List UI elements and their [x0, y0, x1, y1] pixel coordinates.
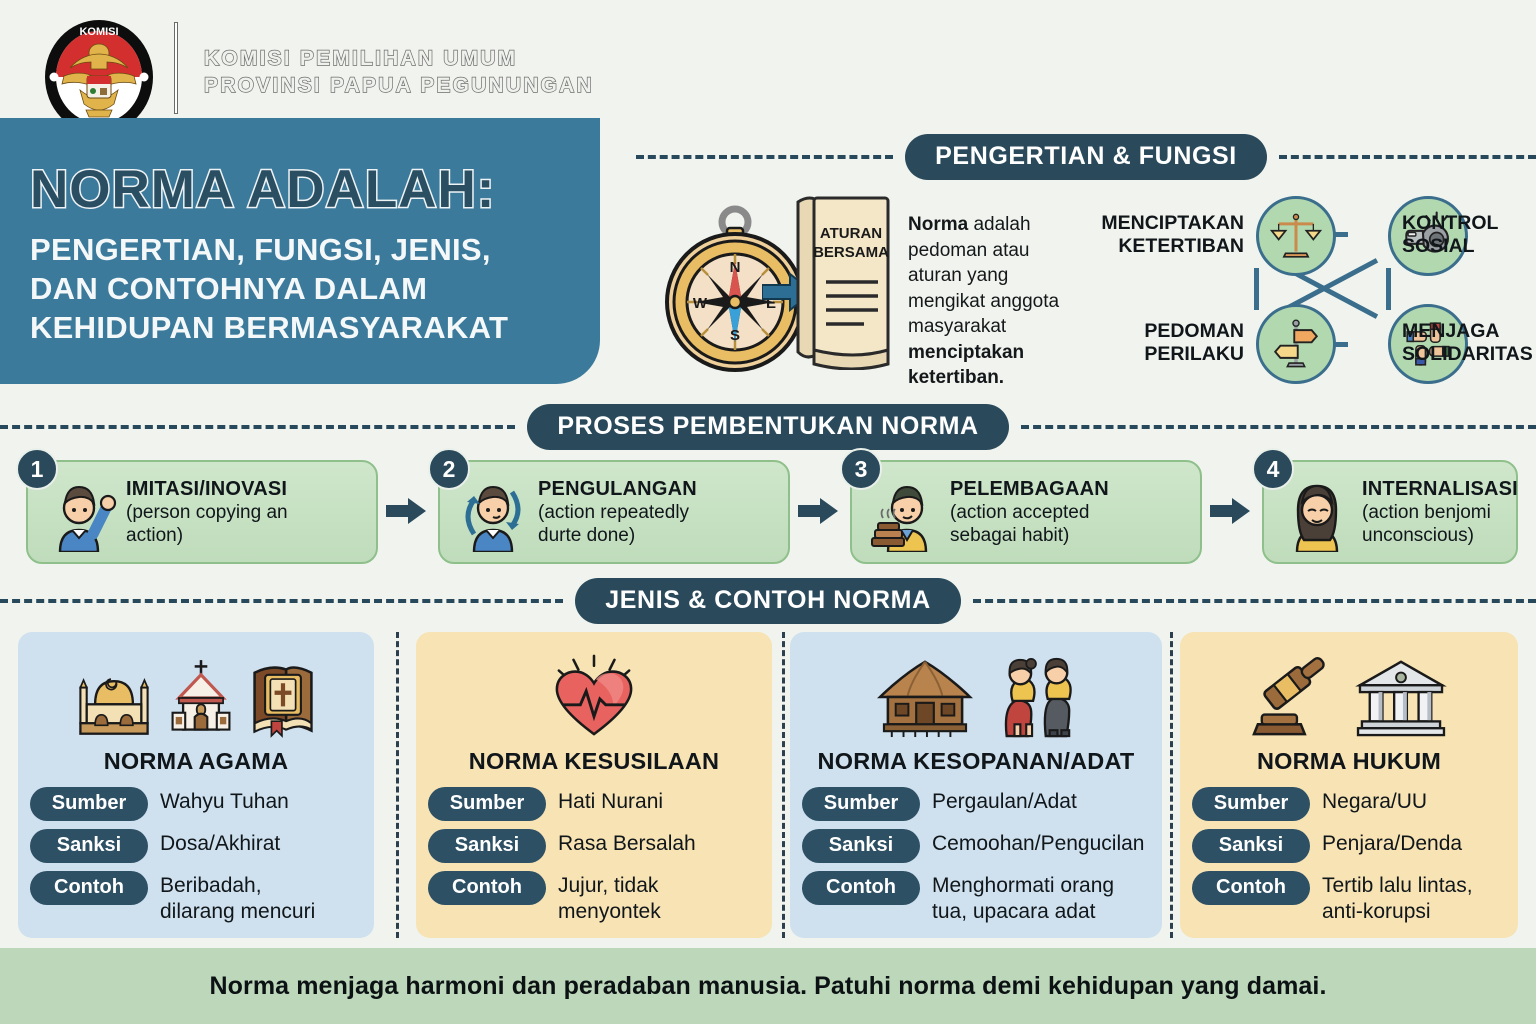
page-subtitle: PENGERTIAN, FUNGSI, JENIS, DAN CONTOHNYA…: [30, 230, 590, 347]
card-divider-3: [1170, 632, 1173, 938]
header-divider: [174, 22, 178, 114]
heart-pulse-icon: [542, 654, 646, 738]
card-1-contoh-value: Beribadah, dilarang mencuri: [160, 871, 315, 925]
card-4-contoh-value: Tertib lalu lintas, anti-korupsi: [1322, 871, 1473, 925]
step-3-text: PELEMBAGAAN (action accepted sebagai hab…: [950, 478, 1109, 547]
fn-1-line2: SOSIAL: [1402, 235, 1536, 258]
card-divider-2: [782, 632, 785, 938]
function-label-kontrol-sosial: KONTROL SOSIAL: [1402, 212, 1536, 258]
process-step-3[interactable]: 3: [850, 460, 1202, 564]
card-3-row-sanksi: Sanksi Cemoohan/Pengucilan: [802, 829, 1152, 863]
card-1-sanksi-value: Dosa/Akhirat: [160, 829, 280, 857]
org-line-2: PROVINSI PAPUA PEGUNUNGAN: [204, 72, 594, 99]
card-4-sumber-value: Negara/UU: [1322, 787, 1427, 815]
pill-sanksi: Sanksi: [428, 829, 546, 863]
mosque-icon: [72, 658, 156, 738]
church-icon: [164, 658, 238, 738]
card-1-sumber-value: Wahyu Tuhan: [160, 787, 289, 815]
card-3-row-sumber: Sumber Pergaulan/Adat: [802, 787, 1152, 821]
dashed-rule-proses-left: [0, 425, 515, 429]
card-4-contoh-line2: anti-korupsi: [1322, 899, 1473, 925]
step-4-desc-line2: unconscious): [1362, 524, 1518, 547]
footer-bar: Norma menjaga harmoni dan peradaban manu…: [0, 948, 1536, 1024]
card-4-row-contoh: Contoh Tertib lalu lintas, anti-korupsi: [1192, 871, 1508, 925]
step-arrow-3: [1210, 498, 1250, 524]
card-2-rows: Sumber Hati Nurani Sanksi Rasa Bersalah …: [416, 787, 772, 925]
subtitle-line-3: KEHIDUPAN BERMASYARAKAT: [30, 308, 590, 347]
step-arrow-2: [798, 498, 838, 524]
fn-0-line1: MENCIPTAKAN: [1058, 212, 1244, 235]
pill-sumber: Sumber: [1192, 787, 1310, 821]
step-1-desc-line2: action): [126, 524, 288, 547]
card-3-icons: [790, 632, 1162, 738]
step-3-desc-line2: sebagai habit): [950, 524, 1109, 547]
scales-icon: [1256, 196, 1336, 276]
dashed-rule-proses-right: [1021, 425, 1536, 429]
person-books-icon: [868, 472, 942, 552]
connector-right: [1386, 268, 1391, 310]
title-panel: NORMA ADALAH: PENGERTIAN, FUNGSI, JENIS,…: [0, 118, 600, 384]
pill-sumber: Sumber: [802, 787, 920, 821]
banner-proses-pembentukan: PROSES PEMBENTUKAN NORMA: [0, 404, 1536, 450]
dashed-rule-left: [636, 155, 893, 159]
banner-pengertian-fungsi: PENGERTIAN & FUNGSI: [636, 134, 1536, 180]
fn-3-line1: MENJAGA: [1402, 320, 1536, 343]
card-4-row-sumber: Sumber Negara/UU: [1192, 787, 1508, 821]
definition-bold-tail: menciptakan ketertiban.: [908, 342, 1024, 389]
pill-sanksi: Sanksi: [30, 829, 148, 863]
card-1-title: NORMA AGAMA: [18, 748, 374, 775]
card-2-row-sanksi: Sanksi Rasa Bersalah: [428, 829, 762, 863]
step-1-text: IMITASI/INOVASI (person copying an actio…: [126, 478, 288, 547]
header-bar: KOMISI PEMILIHAN UMUM KOMISI PEMILIHAN U…: [0, 0, 1536, 118]
step-number-badge: 4: [1252, 448, 1294, 490]
fn-2-line2: PERILAKU: [1058, 343, 1244, 366]
step-number-badge: 1: [16, 448, 58, 490]
functions-diagram: MENCIPTAKAN KETERTIBAN: [1058, 190, 1528, 380]
banner-jenis-contoh: JENIS & CONTOH NORMA: [0, 578, 1536, 624]
scroll-label-line2: BERSAMA: [813, 244, 889, 261]
person-repeat-icon: [456, 472, 530, 552]
card-norma-hukum[interactable]: NORMA HUKUM Sumber Negara/UU Sanksi Penj…: [1180, 632, 1518, 938]
step-2-desc-line1: (action repeatedly: [538, 501, 697, 524]
process-step-4[interactable]: 4 INTERNALISASI (action benjomi unconsci…: [1262, 460, 1518, 564]
page-title: NORMA ADALAH:: [30, 162, 495, 218]
fn-3-line2: SOLIDARITAS: [1402, 343, 1536, 366]
pill-contoh: Contoh: [1192, 871, 1310, 905]
step-4-text: INTERNALISASI (action benjomi unconsciou…: [1362, 478, 1518, 547]
card-1-row-sumber: Sumber Wahyu Tuhan: [30, 787, 364, 821]
signpost-icon: [1256, 304, 1336, 384]
card-norma-kesopanan-adat[interactable]: NORMA KESOPANAN/ADAT Sumber Pergaulan/Ad…: [790, 632, 1162, 938]
dashed-rule-jenis-left: [0, 599, 563, 603]
card-1-icons: [18, 632, 374, 738]
step-1-title: IMITASI/INOVASI: [126, 478, 288, 501]
dashed-rule-jenis-right: [973, 599, 1536, 603]
step-4-desc-line1: (action benjomi: [1362, 501, 1518, 524]
gavel-icon: [1247, 654, 1343, 738]
step-2-desc-line2: durte done): [538, 524, 697, 547]
card-3-rows: Sumber Pergaulan/Adat Sanksi Cemoohan/Pe…: [790, 787, 1162, 925]
header-org-text: KOMISI PEMILIHAN UMUM PROVINSI PAPUA PEG…: [204, 45, 594, 99]
card-3-contoh-line2: tua, upacara adat: [932, 899, 1114, 925]
fn-2-line1: PEDOMAN: [1058, 320, 1244, 343]
step-arrow-1: [386, 498, 426, 524]
function-label-menciptakan-ketertiban: MENCIPTAKAN KETERTIBAN: [1058, 212, 1244, 258]
card-norma-kesusilaan[interactable]: NORMA KESUSILAAN Sumber Hati Nurani Sank…: [416, 632, 772, 938]
card-divider-1: [396, 632, 399, 938]
process-steps: 1 IMITASI/INOVASI (person copying an act…: [14, 452, 1524, 568]
card-2-contoh-value: Jujur, tidak menyontek: [558, 871, 661, 925]
pill-contoh: Contoh: [802, 871, 920, 905]
card-1-contoh-line2: dilarang mencuri: [160, 899, 315, 925]
card-2-sumber-value: Hati Nurani: [558, 787, 663, 815]
card-3-sanksi-value: Cemoohan/Pengucilan: [932, 829, 1144, 857]
step-number-badge: 3: [840, 448, 882, 490]
card-2-sanksi-value: Rasa Bersalah: [558, 829, 696, 857]
pill-sanksi: Sanksi: [1192, 829, 1310, 863]
card-4-contoh-line1: Tertib lalu lintas,: [1322, 873, 1473, 899]
person-calm-icon: [1280, 472, 1354, 552]
banner-label-jenis: JENIS & CONTOH NORMA: [575, 578, 960, 624]
norma-definition-text: Norma adalah pedoman atau aturan yang me…: [908, 212, 1066, 391]
logo-text-top: KOMISI: [79, 26, 118, 38]
step-3-title: PELEMBAGAAN: [950, 478, 1109, 501]
card-3-contoh-value: Menghormati orang tua, upacara adat: [932, 871, 1114, 925]
card-2-row-contoh: Contoh Jujur, tidak menyontek: [428, 871, 762, 925]
card-4-title: NORMA HUKUM: [1180, 748, 1518, 775]
card-2-row-sumber: Sumber Hati Nurani: [428, 787, 762, 821]
rules-scroll-icon: ATURAN BERSAMA: [790, 190, 900, 370]
card-2-contoh-line2: menyontek: [558, 899, 661, 925]
pill-sumber: Sumber: [30, 787, 148, 821]
definition-bold-lead: Norma: [908, 214, 968, 235]
compass-north-label: N: [730, 259, 741, 276]
card-3-sumber-value: Pergaulan/Adat: [932, 787, 1077, 815]
process-step-2[interactable]: 2 PENGULANGAN (action repeatedly: [438, 460, 790, 564]
scroll-label-line1: ATURAN: [820, 225, 882, 242]
infographic-page: KOMISI PEMILIHAN UMUM KOMISI PEMILIHAN U…: [0, 0, 1536, 1024]
bowing-people-icon: [988, 654, 1082, 738]
compass-south-label: S: [730, 327, 740, 344]
footer-message: Norma menjaga harmoni dan peradaban manu…: [210, 972, 1327, 1001]
norm-type-cards: NORMA AGAMA Sumber Wahyu Tuhan Sanksi Do…: [18, 632, 1518, 938]
subtitle-line-1: PENGERTIAN, FUNGSI, JENIS,: [30, 230, 590, 269]
step-4-title: INTERNALISASI: [1362, 478, 1518, 501]
step-3-desc-line1: (action accepted: [950, 501, 1109, 524]
holy-book-icon: [246, 658, 320, 738]
card-2-contoh-line1: Jujur, tidak: [558, 873, 661, 899]
card-4-sanksi-value: Penjara/Denda: [1322, 829, 1462, 857]
pill-sumber: Sumber: [428, 787, 546, 821]
person-pointing-icon: [44, 472, 118, 552]
function-label-pedoman-perilaku: PEDOMAN PERILAKU: [1058, 320, 1244, 366]
process-step-1[interactable]: 1 IMITASI/INOVASI (person copying an act…: [26, 460, 378, 564]
banner-label-pengertian: PENGERTIAN & FUNGSI: [905, 134, 1267, 180]
subtitle-line-2: DAN CONTOHNYA DALAM: [30, 269, 590, 308]
connector-left: [1254, 268, 1259, 310]
banner-label-proses: PROSES PEMBENTUKAN NORMA: [527, 404, 1008, 450]
dashed-rule-right: [1279, 155, 1536, 159]
pill-contoh: Contoh: [30, 871, 148, 905]
step-2-title: PENGULANGAN: [538, 478, 697, 501]
card-norma-agama[interactable]: NORMA AGAMA Sumber Wahyu Tuhan Sanksi Do…: [18, 632, 374, 938]
card-1-rows: Sumber Wahyu Tuhan Sanksi Dosa/Akhirat C…: [18, 787, 374, 925]
card-4-rows: Sumber Negara/UU Sanksi Penjara/Denda Co…: [1180, 787, 1518, 925]
step-1-desc-line1: (person copying an: [126, 501, 288, 524]
pill-contoh: Contoh: [428, 871, 546, 905]
fn-1-line1: KONTROL: [1402, 212, 1536, 235]
card-2-title: NORMA KESUSILAAN: [416, 748, 772, 775]
card-1-row-sanksi: Sanksi Dosa/Akhirat: [30, 829, 364, 863]
pill-sanksi: Sanksi: [802, 829, 920, 863]
org-line-1: KOMISI PEMILIHAN UMUM: [204, 45, 594, 72]
card-1-row-contoh: Contoh Beribadah, dilarang mencuri: [30, 871, 364, 925]
card-3-title: NORMA KESOPANAN/ADAT: [790, 748, 1162, 775]
step-number-badge: 2: [428, 448, 470, 490]
card-3-contoh-line1: Menghormati orang: [932, 873, 1114, 899]
courthouse-icon: [1351, 654, 1451, 738]
fn-0-line2: KETERTIBAN: [1058, 235, 1244, 258]
card-1-contoh-line1: Beribadah,: [160, 873, 315, 899]
card-3-row-contoh: Contoh Menghormati orang tua, upacara ad…: [802, 871, 1152, 925]
card-2-icons: [416, 632, 772, 738]
step-2-text: PENGULANGAN (action repeatedly durte don…: [538, 478, 697, 547]
function-label-menjaga-solidaritas: MENJAGA SOLIDARITAS: [1402, 320, 1536, 366]
card-4-icons: [1180, 632, 1518, 738]
compass-west-label: W: [693, 295, 708, 312]
card-4-row-sanksi: Sanksi Penjara/Denda: [1192, 829, 1508, 863]
traditional-house-icon: [870, 654, 980, 738]
